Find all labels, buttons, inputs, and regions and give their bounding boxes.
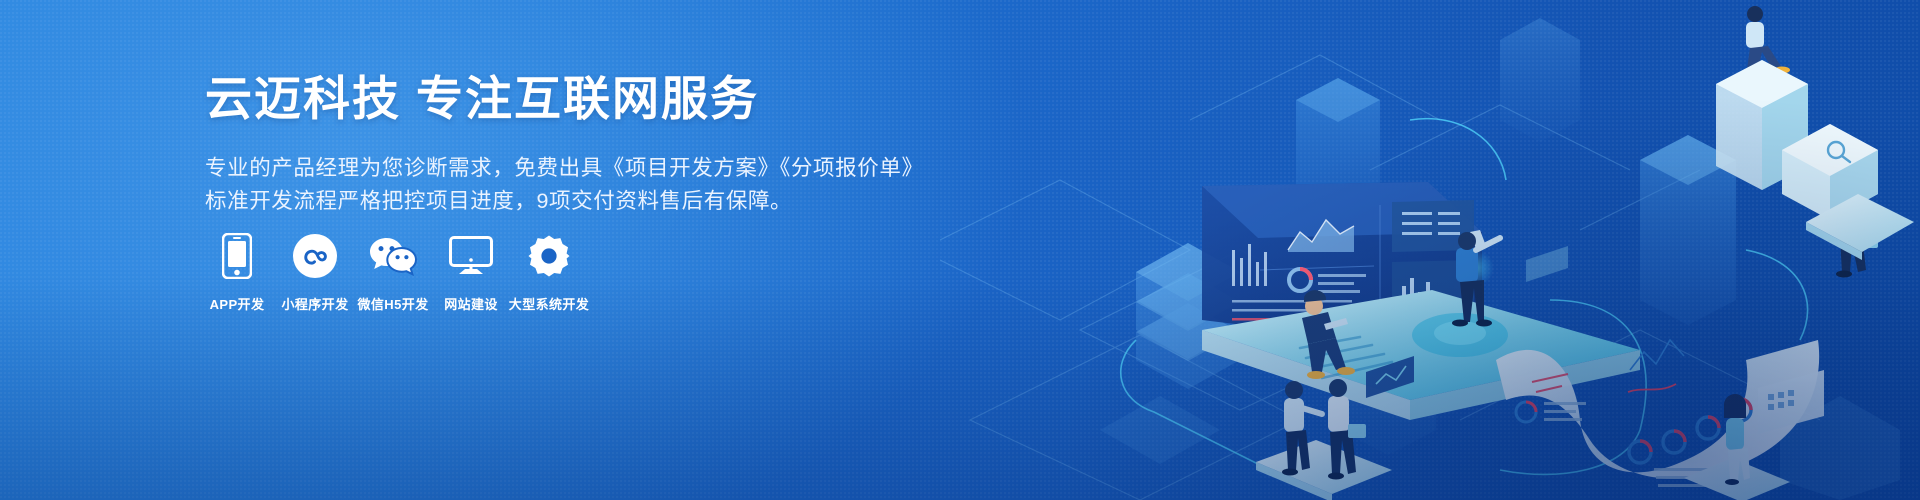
subtitle-line-2: 标准开发流程严格把控项目进度，9项交付资料售后有保障。 xyxy=(205,185,905,218)
screen-donut-chart xyxy=(1289,269,1311,291)
service-label: APP开发 xyxy=(210,294,265,313)
mobile-phone-icon xyxy=(222,232,252,280)
pedestal-cubes xyxy=(1716,60,1914,260)
service-label: 小程序开发 xyxy=(281,294,348,313)
city-block-towers xyxy=(1100,0,1900,500)
monitor-icon xyxy=(449,232,493,280)
connector-lines xyxy=(1121,119,1808,475)
ribbon-mini-panel xyxy=(1758,370,1824,434)
promo-banner: 云迈科技 专注互联网服务 专业的产品经理为您诊断需求，免费出具《项目开发方案》《… xyxy=(0,0,1920,500)
subtitle-line-1: 专业的产品经理为您诊断需求，免费出具《项目开发方案》《分项报价单》 xyxy=(205,152,905,185)
background-wire-grid xyxy=(940,55,1820,500)
service-label: 大型系统开发 xyxy=(509,294,589,313)
service-label: 微信H5开发 xyxy=(357,294,428,313)
person-with-briefcase xyxy=(1836,189,1878,278)
wechat-icon xyxy=(369,232,417,280)
screen-bar-chart xyxy=(1232,244,1267,286)
ribbon-donut-row xyxy=(1629,399,1751,463)
woman-on-tablet xyxy=(1684,394,1790,500)
service-item-large-system[interactable]: 大型系统开发 xyxy=(512,232,586,313)
service-item-wechat-h5[interactable]: 微信H5开发 xyxy=(356,232,430,313)
screen-area-chart xyxy=(1288,220,1354,252)
large-tablet-platform xyxy=(1202,290,1640,420)
banner-text-block: 云迈科技 专注互联网服务 专业的产品经理为您诊断需求，免费出具《项目开发方案》《… xyxy=(205,72,905,218)
service-item-app[interactable]: APP开发 xyxy=(200,232,274,313)
service-label: 网站建设 xyxy=(444,294,498,313)
gear-icon xyxy=(528,232,570,280)
low-plate-right xyxy=(1806,194,1914,260)
banner-subtitle: 专业的产品经理为您诊断需求，免费出具《项目开发方案》《分项报价单》 标准开发流程… xyxy=(205,152,905,218)
service-icon-row: APP开发 小程序开发 xyxy=(200,232,590,313)
ribbon-content xyxy=(1516,340,1824,487)
mini-program-icon xyxy=(293,232,337,280)
floating-mini-cards xyxy=(1366,246,1568,398)
standing-person-pointing xyxy=(1452,230,1500,327)
seated-person-top-right xyxy=(1742,6,1790,84)
dashboard-screen xyxy=(1202,182,1494,352)
service-item-mini-program[interactable]: 小程序开发 xyxy=(278,232,352,313)
service-item-website[interactable]: 网站建设 xyxy=(434,232,508,313)
seated-person-laptop xyxy=(1302,290,1355,379)
screen-side-cards xyxy=(1392,200,1474,342)
isometric-illustration xyxy=(940,0,1920,500)
two-people-on-tablet xyxy=(1256,379,1392,500)
banner-headline: 云迈科技 专注互联网服务 xyxy=(205,72,905,126)
stacked-server-block xyxy=(1136,243,1240,389)
flowing-data-ribbon xyxy=(1496,340,1824,487)
search-box-cube xyxy=(1782,124,1878,220)
